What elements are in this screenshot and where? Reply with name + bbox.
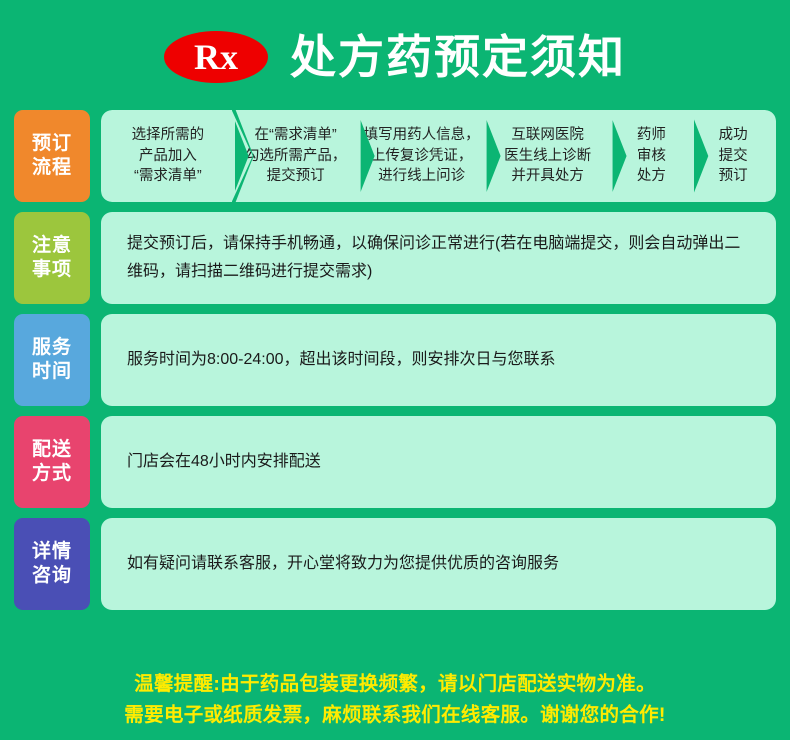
flow-label-line1: 预订: [32, 132, 72, 156]
notice-label: 注意 事项: [14, 212, 90, 304]
delivery-label-line2: 方式: [32, 462, 72, 486]
service-hours-label-line2: 时间: [32, 360, 72, 384]
rx-badge-icon: Rx: [164, 31, 268, 83]
step-pharmacist-review: 药师审核处方: [609, 110, 695, 202]
notice-section: 注意 事项 提交预订后，请保持手机畅通，以确保问诊正常进行(若在电脑端提交，则会…: [0, 212, 790, 304]
service-hours-label: 服务 时间: [14, 314, 90, 406]
service-hours-panel: 服务时间为8:00-24:00，超出该时间段，则安排次日与您联系: [101, 314, 776, 406]
service-hours-text: 服务时间为8:00-24:00，超出该时间段，则安排次日与您联系: [127, 346, 756, 374]
flow-label-line2: 流程: [32, 156, 72, 180]
notice-label-line1: 注意: [32, 234, 72, 258]
step-submit-success: 成功提交预订: [690, 110, 776, 202]
footer-line-1: 温馨提醒:由于药品包装更换频繁，请以门店配送实物为准。: [0, 669, 790, 701]
step-submit-success-text: 成功提交预订: [719, 125, 748, 187]
step-check-list-text: 在“需求清单”勾选所需产品，提交预订: [245, 125, 347, 187]
notice-text: 提交预订后，请保持手机畅通，以确保问诊正常进行(若在电脑端提交，则会自动弹出二维…: [127, 230, 756, 286]
notice-panel: 提交预订后，请保持手机畅通，以确保问诊正常进行(若在电脑端提交，则会自动弹出二维…: [101, 212, 776, 304]
delivery-text: 门店会在48小时内安排配送: [127, 448, 756, 476]
step-select-product-text: 选择所需的产品加入“需求清单”: [132, 125, 205, 187]
step-fill-info: 填写用药人信息，上传复诊凭证，进行线上问诊: [357, 110, 487, 202]
delivery-label: 配送 方式: [14, 416, 90, 508]
page-header: Rx 处方药预定须知: [0, 0, 790, 108]
consultation-section: 详情 咨询 如有疑问请联系客服，开心堂将致力为您提供优质的咨询服务: [0, 518, 790, 610]
step-online-diagnosis-text: 互联网医院医生线上诊断并开具处方: [504, 125, 591, 187]
notice-label-line2: 事项: [32, 258, 72, 282]
delivery-panel: 门店会在48小时内安排配送: [101, 416, 776, 508]
step-pharmacist-review-text: 药师审核处方: [637, 125, 666, 187]
footer-notice: 温馨提醒:由于药品包装更换频繁，请以门店配送实物为准。 需要电子或纸质发票，麻烦…: [0, 669, 790, 732]
service-hours-section: 服务 时间 服务时间为8:00-24:00，超出该时间段，则安排次日与您联系: [0, 314, 790, 406]
page-title: 处方药预定须知: [290, 34, 626, 80]
delivery-section: 配送 方式 门店会在48小时内安排配送: [0, 416, 790, 508]
step-online-diagnosis: 互联网医院医生线上诊断并开具处方: [483, 110, 613, 202]
step-check-list: 在“需求清单”勾选所需产品，提交预订: [231, 110, 361, 202]
order-flow-section: 预订 流程 选择所需的产品加入“需求清单” 在“需求清单”勾选所需产品，提交预订…: [0, 110, 790, 202]
step-fill-info-text: 填写用药人信息，上传复诊凭证，进行线上问诊: [364, 125, 480, 187]
consultation-panel: 如有疑问请联系客服，开心堂将致力为您提供优质的咨询服务: [101, 518, 776, 610]
service-hours-label-line1: 服务: [32, 336, 72, 360]
consultation-text: 如有疑问请联系客服，开心堂将致力为您提供优质的咨询服务: [127, 550, 756, 578]
flow-label: 预订 流程: [14, 110, 90, 202]
consultation-label-line2: 咨询: [32, 564, 72, 588]
consultation-label-line1: 详情: [32, 540, 72, 564]
step-select-product: 选择所需的产品加入“需求清单”: [101, 110, 235, 202]
consultation-label: 详情 咨询: [14, 518, 90, 610]
delivery-label-line1: 配送: [32, 438, 72, 462]
flow-steps-panel: 选择所需的产品加入“需求清单” 在“需求清单”勾选所需产品，提交预订 填写用药人…: [101, 110, 776, 202]
footer-line-2: 需要电子或纸质发票，麻烦联系我们在线客服。谢谢您的合作!: [0, 700, 790, 732]
